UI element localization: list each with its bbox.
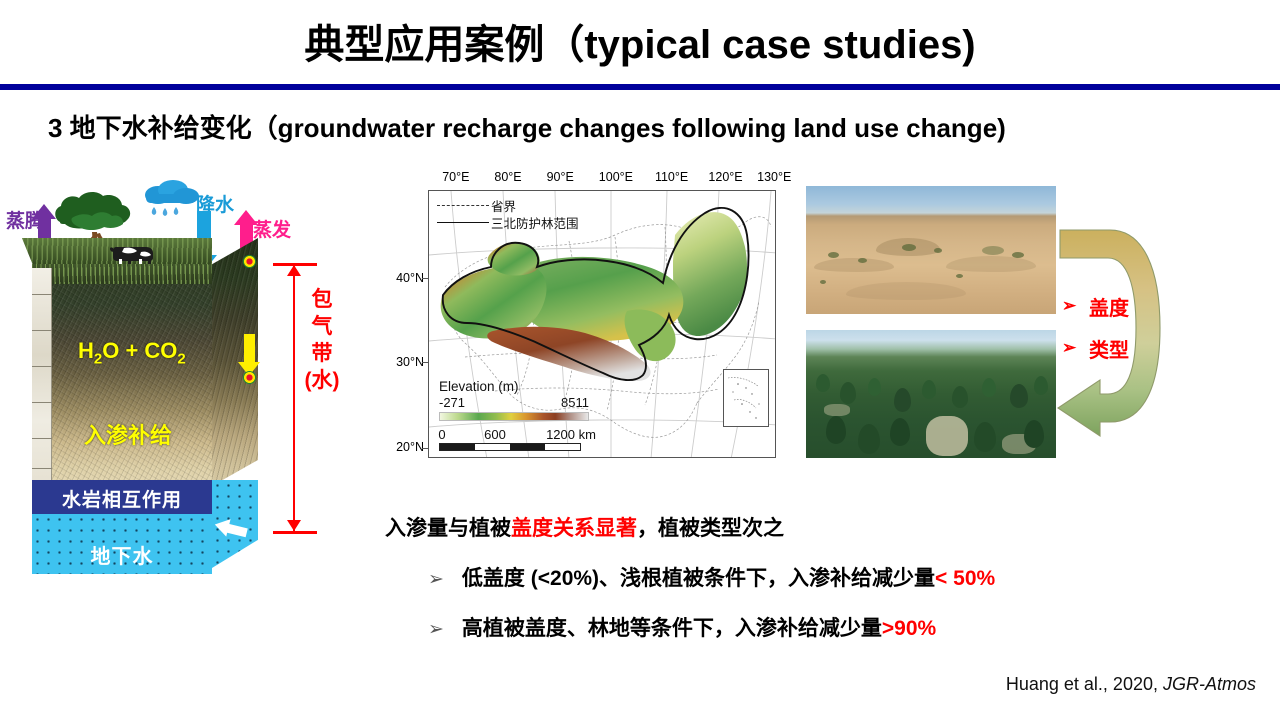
percolation-arrow: [244, 334, 255, 362]
soil-block: H2O + CO2 入渗补给 水岩相互作用 地下水: [22, 238, 267, 573]
title-divider: [0, 84, 1280, 90]
rain-cloud-icon: [140, 179, 202, 223]
finding-main: 入渗量与植被盖度关系显著，植被类型次之: [385, 512, 784, 542]
page-title: 典型应用案例（typical case studies): [0, 12, 1280, 70]
bullet-glyph: ➢: [428, 619, 444, 640]
photo-forest: [806, 330, 1056, 458]
lat-tick-label: 30°N: [396, 355, 424, 369]
surface-grass: [32, 264, 212, 284]
keyword-bullet-icon: ➢: [1062, 338, 1076, 358]
inset-islands: [724, 370, 768, 426]
label-infiltration-recharge: 入渗补给: [84, 418, 172, 450]
elevation-max: 8511: [561, 395, 589, 410]
citation-journal: JGR-Atmos: [1163, 674, 1256, 694]
keyword-cover-degree: 盖度: [1089, 292, 1129, 321]
vadose-arrowhead-top: [287, 265, 301, 276]
keyword-vegetation-type: 类型: [1089, 334, 1129, 363]
finding-highlight: 盖度关系显著: [511, 517, 637, 540]
elevation-title: Elevation (m): [439, 379, 589, 394]
sensor-marker-upper: [243, 255, 256, 268]
sensor-marker-lower: [243, 371, 256, 384]
forest-scene: [806, 330, 1056, 458]
elevation-min: -271: [439, 395, 465, 410]
bullet-1-highlight: < 50%: [935, 567, 995, 590]
scale-tick-label: 600: [484, 427, 506, 442]
desert-scene: [806, 186, 1056, 314]
solid-line-icon: [437, 222, 489, 223]
vadose-bottom-cap: [273, 531, 317, 534]
wri-label: 水岩相互作用: [62, 485, 182, 512]
cow-icon: [108, 241, 160, 265]
elevation-colorbar: [439, 412, 589, 421]
longitude-axis: 70°E 80°E 90°E 100°E 110°E 120°E 130°E: [428, 170, 776, 189]
groundwater-label: 地下水: [32, 540, 212, 569]
latitude-axis: 40°N 30°N 20°N: [392, 190, 428, 458]
legend-province-row: 省界: [437, 197, 579, 214]
lon-tick-label: 70°E: [442, 170, 469, 184]
south-china-sea-inset: [723, 369, 769, 427]
lon-tick-label: 110°E: [655, 170, 688, 184]
citation: Huang et al., 2020, JGR-Atmos: [1006, 674, 1256, 695]
landscape-photo-pair: [806, 186, 1056, 458]
vadose-zone-label: 包 气 带 (水): [300, 286, 344, 394]
soil-core-scale: [32, 268, 52, 486]
dashed-line-icon: [437, 205, 489, 206]
soil-texture: [32, 264, 212, 486]
lon-tick-label: 130°E: [757, 170, 791, 184]
groundwater-front: 地下水: [32, 514, 212, 574]
map-plot-area: 省界 三北防护林范围 Elevation (m) -271 8511: [428, 190, 776, 458]
lon-tick-label: 100°E: [599, 170, 633, 184]
curved-arrow-icon: [1052, 222, 1164, 438]
legend-shelterbelt-row: 三北防护林范围: [437, 214, 579, 231]
scale-tick-label: 1200 km: [546, 427, 596, 442]
lon-tick-label: 120°E: [708, 170, 742, 184]
vadose-arrowhead-bottom: [287, 520, 301, 531]
photo-desert: [806, 186, 1056, 314]
lat-tick-label: 40°N: [396, 271, 424, 285]
bullet-2-highlight: >90%: [882, 617, 936, 640]
lon-tick-label: 80°E: [494, 170, 521, 184]
vadose-measure-line: [293, 263, 295, 533]
soil-front-face: [32, 264, 212, 486]
lat-tick-label: 20°N: [396, 440, 424, 454]
vadose-zone-schematic: 蒸腾 降水 蒸发: [0, 168, 345, 588]
scale-tick-label: 0: [438, 427, 445, 442]
slide-canvas: 典型应用案例（typical case studies) 3 地下水补给变化（g…: [0, 0, 1280, 720]
chemistry-label: H2O + CO2: [78, 338, 186, 367]
water-rock-interaction-band: 水岩相互作用: [32, 480, 212, 516]
map-scalebar: 0 600 1200 km: [439, 427, 609, 451]
bullet-glyph: ➢: [428, 569, 444, 590]
china-shelterbelt-map: 70°E 80°E 90°E 100°E 110°E 120°E 130°E 4…: [392, 168, 782, 468]
legend-shelterbelt-label: 三北防护林范围: [491, 213, 579, 232]
lon-tick-label: 90°E: [547, 170, 574, 184]
map-legend: 省界 三北防护林范围: [437, 197, 579, 231]
section-subtitle: 3 地下水补给变化（groundwater recharge changes f…: [48, 108, 1248, 145]
elevation-legend: Elevation (m) -271 8511: [439, 379, 589, 421]
keyword-bullet-icon: ➢: [1062, 296, 1076, 316]
finding-bullet-2: ➢高植被盖度、林地等条件下，入渗补给减少量>90%: [428, 612, 936, 642]
cover-type-cycle-arrow: [1052, 222, 1164, 438]
finding-bullet-1: ➢低盖度 (<20%)、浅根植被条件下，入渗补给减少量< 50%: [428, 562, 995, 592]
